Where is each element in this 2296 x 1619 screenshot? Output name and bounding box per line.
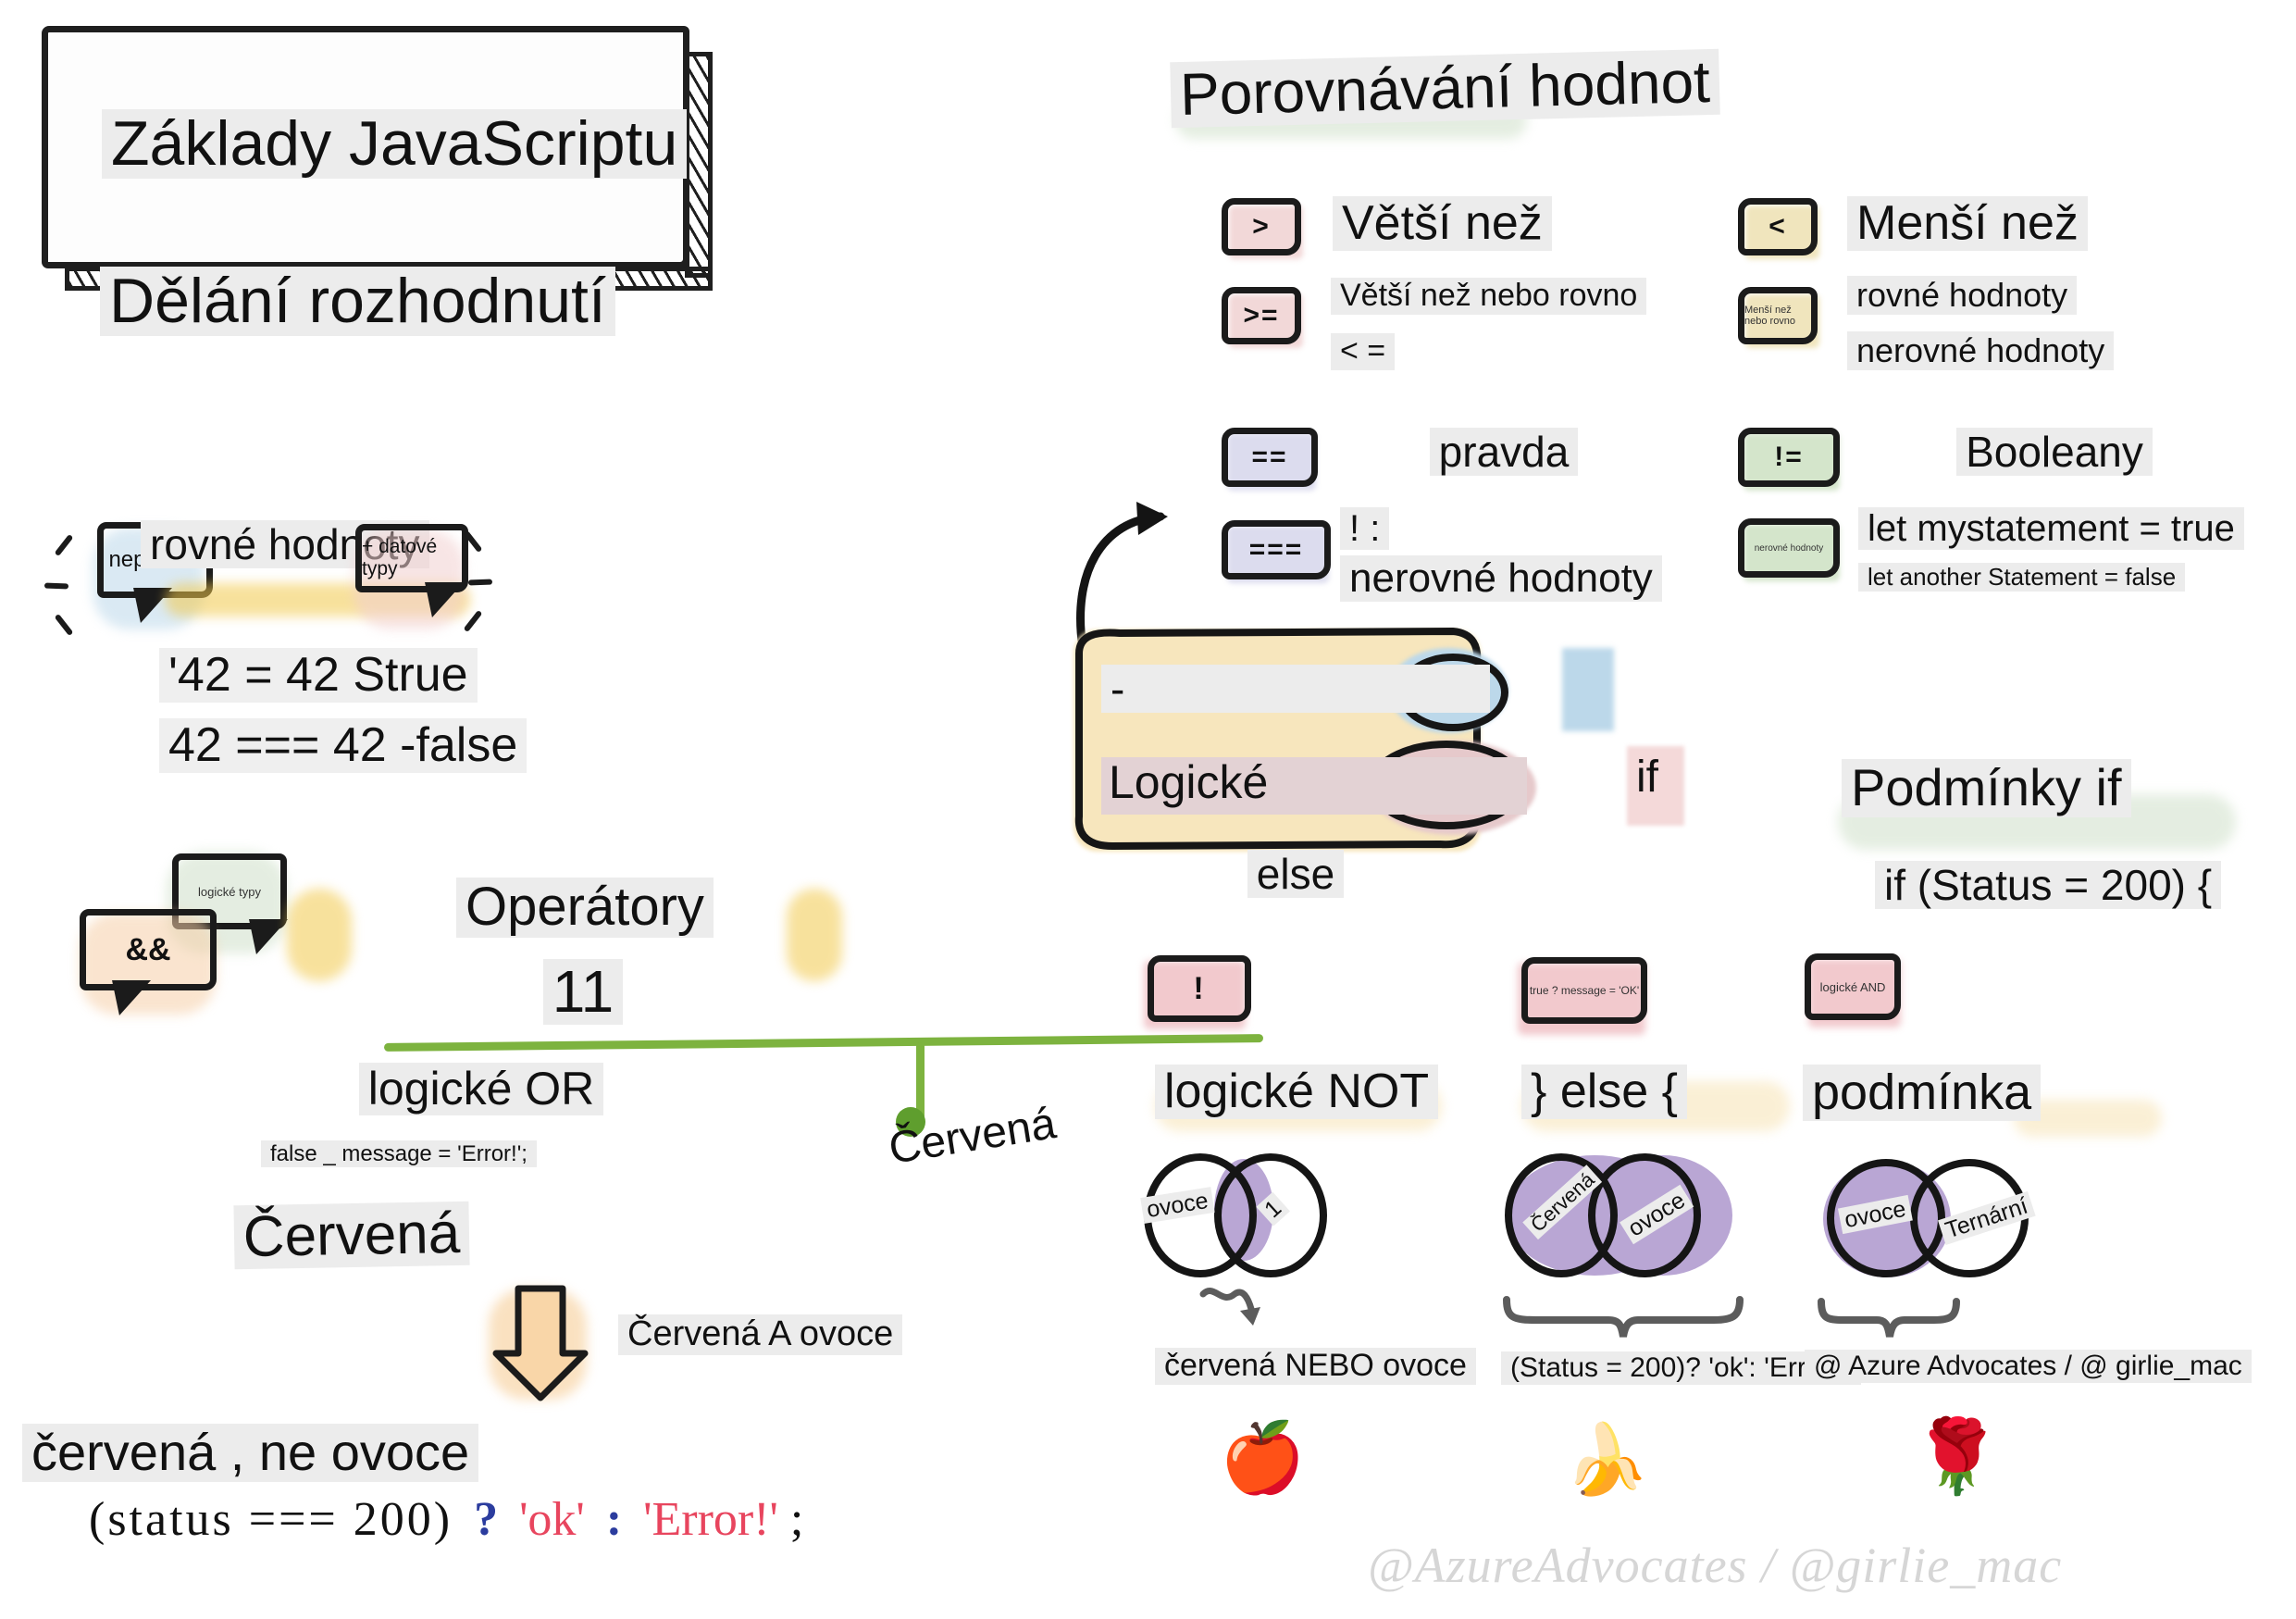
operator-label-strict-equal: ! : [1340, 507, 1389, 550]
middle-logicke-label: Logické [1109, 755, 1268, 809]
code-line-strict-equal: 42 === 42 -false [159, 718, 527, 773]
bubble-and-operator[interactable]: && [80, 909, 217, 990]
condition-operator-chip[interactable]: logické AND [1805, 953, 1901, 1020]
operator-chip-less-than[interactable]: < [1738, 198, 1818, 255]
condition-label: podmínka [1803, 1065, 2041, 1121]
middle-if-label: if [1636, 752, 1658, 803]
logical-or-label: logické OR [0, 1063, 962, 1115]
operators-count: 11 [259, 959, 907, 1025]
venn-else: Červená ovoce [1499, 1148, 1795, 1287]
operator-chip-less-equal[interactable]: Menší než nebo rovno [1738, 287, 1818, 344]
operator-label-booleans: Booleany [1860, 428, 2249, 476]
spark-icon [55, 614, 74, 636]
code-line-loose-equal: '42 = 42 Strue [159, 648, 478, 703]
condition-caption: @ Azure Advocates / @ girlie_mac [1805, 1350, 2252, 1383]
red-label-big: Červená [55, 1198, 648, 1272]
boolean-code-true: let mystatement = true [1858, 507, 2244, 550]
bubble-tail [417, 582, 464, 617]
venn-not: ovoce 1 [1138, 1148, 1416, 1287]
logical-not-label: logické NOT [1155, 1065, 1438, 1119]
curly-brace-icon [1816, 1298, 1964, 1342]
page-title-line2: Dělání rozhodnutí [100, 267, 615, 336]
curly-brace-icon [1499, 1294, 1749, 1340]
operator-label-less-than: Menší než [1847, 196, 2088, 251]
operator-label-loose-equal: pravda [1342, 428, 1666, 476]
red-not-fruit-label: červená , ne ovoce [22, 1424, 478, 1482]
operator-sub-less-equal: nerovné hodnoty [1847, 331, 2114, 370]
code-false-message: false _ message = 'Error!'; [261, 1140, 537, 1167]
bubble-tail [242, 919, 288, 954]
comparison-heading: Porovnávání hodnot [1170, 49, 1719, 129]
operator-chip-bool-equal[interactable]: nerovné hodnoty [1738, 518, 1840, 578]
operator-label-greater-than: Větší než [1333, 196, 1552, 251]
operators-heading: Operátory [326, 878, 844, 938]
page-title-line1: Základy JavaScriptu [102, 109, 687, 179]
not-operator-chip[interactable]: ! [1148, 955, 1251, 1022]
venn-condition: ovoce Ternární [1814, 1148, 2119, 1296]
operator-chip-greater-than[interactable]: > [1222, 198, 1301, 255]
spark-icon [44, 583, 68, 590]
operator-chip-strict-equal[interactable]: === [1222, 520, 1331, 579]
else-operator-chip[interactable]: true ? message = 'OK' [1521, 957, 1647, 1024]
if-heading: Podmínky if [1842, 759, 2131, 817]
operator-label-less-equal: rovné hodnoty [1847, 276, 2077, 315]
arrow-down-icon [483, 1283, 598, 1403]
middle-else-label: else [1101, 850, 1490, 898]
squiggle-arrow-icon [1198, 1277, 1281, 1339]
watermark: @AzureAdvocates / @girlie_mac [1368, 1537, 2062, 1594]
operator-sub-greater-equal: < = [1331, 333, 1395, 370]
operator-chip-greater-equal[interactable]: >= [1222, 287, 1301, 344]
bubble-tail [105, 980, 151, 1015]
operator-sub-strict-equal: nerovné hodnoty [1340, 555, 1662, 602]
rose-icon: 🌹 [1912, 1414, 2002, 1500]
else-block-label: } else { [1521, 1065, 1687, 1119]
operator-chip-not-equal[interactable]: != [1738, 428, 1840, 487]
arrow-caption: Červená A ovoce [618, 1314, 902, 1355]
ternary-colon: : [597, 1492, 631, 1547]
middle-dash: - [1101, 665, 1490, 713]
boolean-code-false: let another Statement = false [1858, 563, 2185, 592]
operator-label-greater-equal: Větší než nebo rovno [1331, 278, 1646, 315]
not-caption: červená NEBO ovoce [1155, 1348, 1476, 1385]
ternary-question-mark: ? [465, 1492, 507, 1547]
apple-icon: 🍎 [1220, 1418, 1305, 1499]
spark-icon [468, 579, 492, 586]
spark-icon [464, 610, 483, 632]
sketchnote-canvas: Základy JavaScriptu Dělání rozhodnutí Po… [0, 0, 2296, 1619]
quote-wash [1562, 648, 1614, 731]
green-underline [384, 1034, 1263, 1052]
spark-icon [55, 534, 74, 556]
if-code: if (Status = 200) { [1875, 861, 2221, 909]
banana-icon: 🍌 [1564, 1420, 1649, 1501]
bubble-datove-typy[interactable]: + datové typy [355, 524, 468, 592]
ternary-expression: (status === 200) ? 'ok' : 'Error!' ; [89, 1492, 803, 1547]
operator-chip-loose-equal[interactable]: == [1222, 428, 1318, 487]
